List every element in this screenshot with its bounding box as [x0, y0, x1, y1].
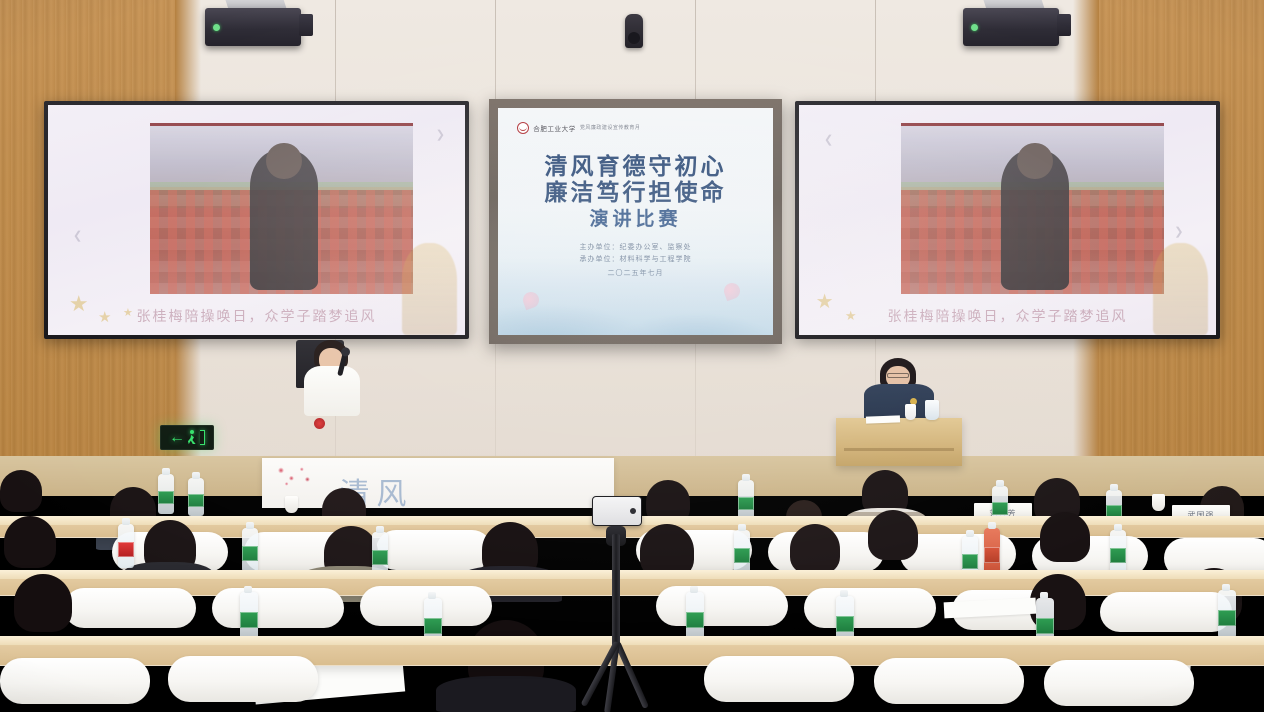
water-bottle [242, 528, 258, 572]
water-bottle [1110, 530, 1126, 574]
slide-photo [150, 123, 413, 293]
university-name: 合肥工业大学 [533, 123, 576, 133]
exit-arrow-icon: ← [169, 430, 185, 446]
university-seal-icon [517, 122, 529, 134]
projector-left [205, 8, 301, 46]
paper-cup [1152, 494, 1165, 511]
speaker-contestant [296, 340, 370, 460]
chair-back [168, 656, 318, 702]
slide-caption: 张桂梅陪操唤日，众学子踏梦追风 [48, 306, 465, 326]
projector-right [963, 8, 1059, 46]
judge-desk [836, 418, 962, 466]
chair-back [1100, 592, 1232, 632]
attendee-head [1040, 512, 1090, 562]
poster-organizer: 主办单位：纪委办公室、监察处 [498, 242, 773, 252]
water-bottle [738, 480, 754, 520]
bird-icon: ❮ [824, 133, 833, 146]
bird-icon: ❮ [73, 229, 82, 242]
water-bottle [734, 530, 750, 574]
mug [925, 400, 939, 420]
chair-back [874, 658, 1024, 704]
water-bottle [686, 592, 704, 640]
chair-back [64, 588, 196, 628]
poster-event-type: 演讲比赛 [498, 204, 773, 231]
thermos-bottle [984, 528, 1000, 574]
chair-back [1044, 660, 1194, 706]
chair-back [376, 530, 492, 570]
plum-blossom-icon [273, 462, 313, 490]
water-bottle [1218, 590, 1236, 638]
camera-lens-icon [630, 508, 636, 514]
bird-icon: ❯ [436, 128, 445, 141]
bird-icon: ❯ [1174, 225, 1183, 238]
attendee-head [14, 574, 72, 632]
water-bottle [118, 524, 134, 568]
scoring-sheet [866, 415, 900, 423]
chair-back [0, 658, 150, 704]
chair-back [212, 588, 344, 628]
projector-lens-icon [213, 24, 220, 31]
running-person-icon [187, 430, 198, 445]
speaker-blouse [304, 366, 360, 416]
chair-back [656, 586, 788, 626]
slide-caption: 张桂梅陪操唤日，众学子踏梦追风 [799, 306, 1216, 326]
glasses-icon [887, 373, 909, 378]
smartphone-recording [592, 496, 642, 526]
chair-back [704, 656, 854, 702]
projector-lens-icon [971, 24, 978, 31]
water-bottle [188, 478, 204, 516]
water-bottle [240, 592, 258, 640]
emergency-exit-sign: ← [160, 425, 214, 450]
attendee-shoulders [436, 676, 576, 712]
poster-title-line-2: 廉洁笃行担使命 [498, 173, 773, 207]
attendee-head [0, 470, 42, 512]
department-banner: 党风廉政建设宣传教育月 [580, 124, 641, 131]
speaker-badge [314, 418, 325, 429]
tripod-column [612, 534, 620, 646]
water-bottle [158, 474, 174, 514]
paper-cup [285, 496, 298, 513]
poster-logo: 合肥工业大学 党风廉政建设宣传教育月 [517, 122, 640, 134]
ceiling-camera-icon [625, 14, 643, 48]
display-screen-left: ❮ ❯ ★ ★ ★ 张桂梅陪操唤日，众学子踏梦追风 [44, 101, 469, 339]
main-poster-screen: 合肥工业大学 党风廉政建设宣传教育月 清风育德守初心 廉洁笃行担使命 演讲比赛 … [489, 99, 782, 344]
attendee-head [790, 524, 840, 574]
attendee-head [868, 510, 918, 560]
lecture-hall-photo: ❮ ❯ ★ ★ ★ 张桂梅陪操唤日，众学子踏梦追风 合肥工业大学 [0, 0, 1264, 712]
attendee-head [4, 516, 56, 568]
display-screen-right: ❮ ❯ ★ ★ 张桂梅陪操唤日，众学子踏梦追风 [795, 101, 1220, 339]
slide-photo [901, 123, 1164, 293]
chair-back [804, 588, 936, 628]
exit-door-icon [200, 430, 205, 445]
paper-cup [905, 404, 916, 420]
stage-front-banner: 清风 [262, 458, 614, 508]
tripod-leg [614, 641, 649, 709]
camera-tripod [586, 498, 646, 712]
